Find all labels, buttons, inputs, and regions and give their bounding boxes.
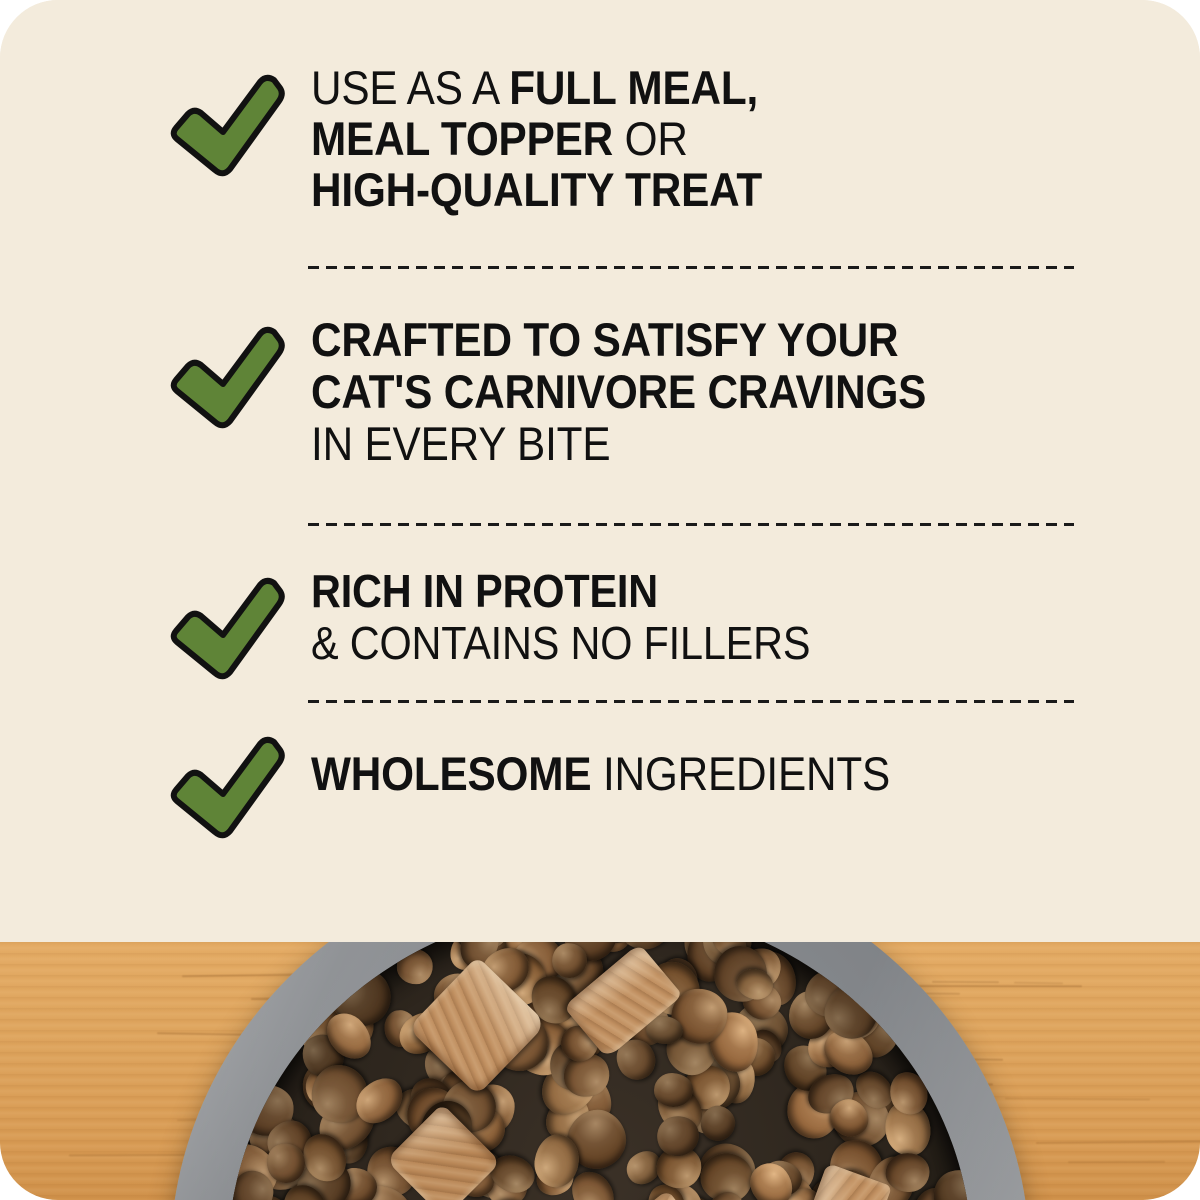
- bullet-3-line-1: RICH IN PROTEIN: [311, 565, 1022, 617]
- green-checkmark-icon: [168, 70, 286, 178]
- green-checkmark-icon: [168, 322, 286, 430]
- feature-bullet-3-text: RICH IN PROTEIN & CONTAINS NO FILLERS: [311, 565, 1101, 669]
- divider-after-bullet-3: [308, 700, 1074, 703]
- cat-food-bowl-photo: [0, 942, 1200, 1200]
- green-checkmark-icon: [168, 732, 286, 840]
- feature-bullet-2-text: CRAFTED TO SATISFY YOUR CAT'S CARNIVORE …: [311, 314, 1101, 470]
- bullet-3-line-2: & CONTAINS NO FILLERS: [311, 617, 1022, 669]
- metal-bowl: [170, 942, 1030, 1200]
- wood-grain-line: [1068, 1161, 1165, 1163]
- kibble-piece: [397, 949, 433, 985]
- bullet-2-line-1: CRAFTED TO SATISFY YOUR: [311, 314, 1022, 366]
- feature-bullet-4-text: WHOLESOME INGREDIENTS: [311, 748, 1101, 800]
- bullet-2-line-2: CAT'S CARNIVORE CRAVINGS: [311, 366, 1022, 418]
- divider-after-bullet-1: [308, 266, 1074, 269]
- feature-bullet-list: USE AS A FULL MEAL, MEAL TOPPER OR HIGH-…: [0, 0, 1200, 942]
- bullet-1-line-3: HIGH-QUALITY TREAT: [311, 164, 1022, 215]
- divider-after-bullet-2: [308, 523, 1074, 526]
- bullet-4-line-1: WHOLESOME INGREDIENTS: [311, 748, 1022, 800]
- feature-bullet-1-text: USE AS A FULL MEAL, MEAL TOPPER OR HIGH-…: [311, 62, 1101, 215]
- bullet-1-line-2: MEAL TOPPER OR: [311, 113, 1022, 164]
- green-checkmark-icon: [168, 573, 286, 681]
- bullet-2-line-3: IN EVERY BITE: [311, 418, 1022, 470]
- feature-bullet-3: RICH IN PROTEIN & CONTAINS NO FILLERS: [0, 565, 1200, 705]
- kibble-piece: [886, 1152, 930, 1192]
- bullet-1-line-1: USE AS A FULL MEAL,: [311, 62, 1022, 113]
- product-feature-card: USE AS A FULL MEAL, MEAL TOPPER OR HIGH-…: [0, 0, 1200, 1200]
- feature-bullet-1: USE AS A FULL MEAL, MEAL TOPPER OR HIGH-…: [0, 62, 1200, 257]
- feature-bullet-4: WHOLESOME INGREDIENTS: [0, 726, 1200, 836]
- feature-bullet-2: CRAFTED TO SATISFY YOUR CAT'S CARNIVORE …: [0, 314, 1200, 514]
